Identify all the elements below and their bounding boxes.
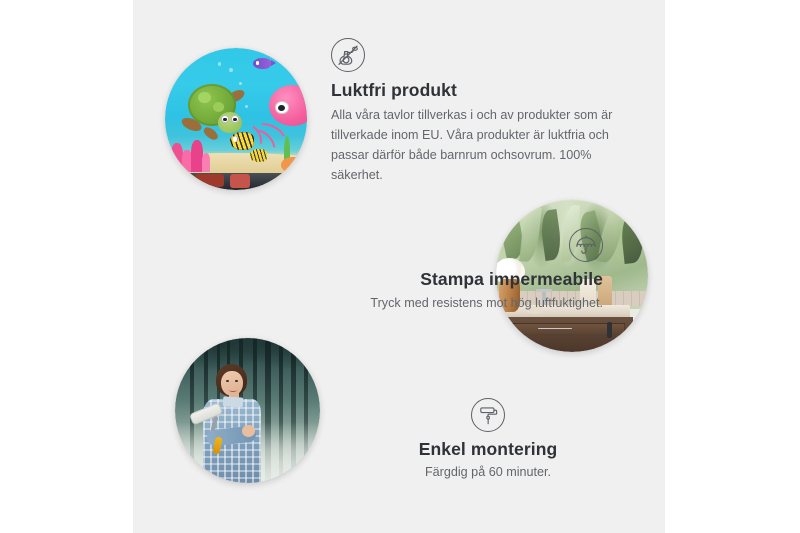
turtle-eye: [221, 115, 229, 123]
shirt-collar: [223, 397, 244, 409]
feature-body: Färgdig på 60 minuter.: [343, 463, 633, 483]
image-woman-with-paint-roller-forest-wallpaper: [175, 338, 320, 483]
infographic-canvas: Luktfri produkt Alla våra tavlor tillver…: [0, 0, 800, 533]
feature-body: Alla våra tavlor tillverkas i och av pro…: [331, 106, 617, 186]
room-foreground-strip: [165, 173, 307, 190]
bubble-icon: [218, 62, 221, 65]
octopus-eye: [275, 101, 289, 113]
leaf-icon: [620, 212, 646, 264]
no-odor-spray-icon: [331, 38, 365, 72]
woman-smile: [229, 387, 238, 391]
feature-title: Enkel montering: [343, 439, 633, 460]
feature-waterproof: Stampa impermeabile Tryck med resistens …: [213, 228, 603, 314]
infographic-panel: Luktfri produkt Alla våra tavlor tillver…: [133, 0, 665, 533]
striped-yellow-fish-icon: [230, 132, 254, 150]
image-underwater-cartoon-scene: [165, 48, 307, 190]
turtle-eye: [231, 115, 239, 123]
purple-fish-icon: [253, 58, 271, 69]
underwater-scene-artwork: [165, 48, 307, 190]
turtle-head: [218, 112, 242, 133]
orange-coral: [281, 157, 304, 173]
woman-hand: [242, 425, 255, 437]
feature-title: Luktfri produkt: [331, 80, 631, 101]
feature-title: Stampa impermeabile: [213, 269, 603, 290]
cabinet-handle: [607, 322, 612, 338]
paint-roller-icon: [471, 398, 505, 432]
forest-installer-artwork: [175, 338, 320, 483]
pink-coral: [202, 153, 211, 171]
umbrella-icon: [569, 228, 603, 262]
woman-eye: [226, 380, 229, 382]
striped-yellow-fish-icon: [250, 149, 267, 162]
wood-vanity-cabinet: [502, 317, 633, 352]
feature-easy-mounting: Enkel montering Färgdig på 60 minuter.: [343, 398, 633, 483]
feature-body: Tryck med resistens mot hög luftfuktighe…: [213, 294, 603, 314]
feature-odor-free: Luktfri produkt Alla våra tavlor tillver…: [331, 38, 631, 186]
forest-canopy-shadow: [175, 338, 320, 387]
